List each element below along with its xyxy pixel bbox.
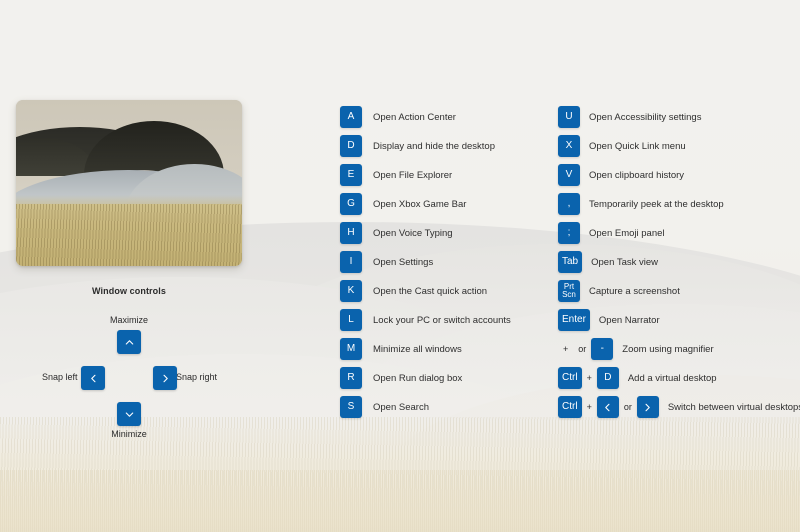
chevron-right-icon bbox=[160, 373, 171, 384]
key-prt-scn[interactable]: PrtScn bbox=[558, 280, 580, 302]
shortcut-description: Switch between virtual desktops bbox=[668, 402, 800, 413]
shortcut-keys: H bbox=[340, 222, 362, 244]
shortcut-row: ;Open Emoji panel bbox=[558, 222, 800, 244]
shortcut-row: VOpen clipboard history bbox=[558, 164, 800, 186]
key-label: L bbox=[348, 315, 354, 325]
key-label-line: Scn bbox=[562, 291, 576, 299]
minimize-label: Minimize bbox=[16, 429, 242, 439]
shortcut-keys: Tab bbox=[558, 251, 582, 273]
shortcut-description: Capture a screenshot bbox=[589, 286, 680, 297]
key-[interactable]: - bbox=[591, 338, 613, 360]
key-label: S bbox=[348, 402, 355, 412]
shortcut-description: Open Emoji panel bbox=[589, 228, 665, 239]
key-label: D bbox=[347, 141, 354, 151]
key-label: ; bbox=[568, 228, 571, 238]
key-h[interactable]: H bbox=[340, 222, 362, 244]
key-x[interactable]: X bbox=[558, 135, 580, 157]
key-label: - bbox=[601, 344, 604, 354]
key-ctrl[interactable]: Ctrl bbox=[558, 396, 582, 418]
key-i[interactable]: I bbox=[340, 251, 362, 273]
shortcut-description: Add a virtual desktop bbox=[628, 373, 717, 384]
shortcut-keys: M bbox=[340, 338, 362, 360]
snap-left-label: Snap left bbox=[42, 372, 78, 382]
shortcut-keys: , bbox=[558, 193, 580, 215]
key-g[interactable]: G bbox=[340, 193, 362, 215]
arrow-up-key[interactable] bbox=[117, 330, 141, 354]
wallpaper-thumbnail bbox=[16, 100, 242, 266]
shortcut-description: Open Quick Link menu bbox=[589, 141, 686, 152]
window-controls-diagram: Maximize Minimize Snap left Snap right bbox=[16, 312, 242, 440]
snap-right-label: Snap right bbox=[176, 372, 217, 382]
shortcut-keys: Ctrl+or bbox=[558, 396, 659, 418]
shortcut-column-left: AOpen Action CenterDDisplay and hide the… bbox=[340, 106, 511, 425]
shortcut-description: Open Task view bbox=[591, 257, 658, 268]
shortcut-description: Zoom using magnifier bbox=[622, 344, 713, 355]
chevron-left-icon bbox=[88, 373, 99, 384]
key-label: D bbox=[604, 373, 611, 383]
shortcut-row: ,Temporarily peek at the desktop bbox=[558, 193, 800, 215]
key-chevron-right[interactable] bbox=[637, 396, 659, 418]
shortcut-row: DDisplay and hide the desktop bbox=[340, 135, 511, 157]
shortcut-description: Temporarily peek at the desktop bbox=[589, 199, 724, 210]
shortcut-row: AOpen Action Center bbox=[340, 106, 511, 128]
shortcut-row: TabOpen Task view bbox=[558, 251, 800, 273]
key-a[interactable]: A bbox=[340, 106, 362, 128]
arrow-down-key[interactable] bbox=[117, 402, 141, 426]
shortcut-description: Lock your PC or switch accounts bbox=[373, 315, 511, 326]
shortcut-keys: D bbox=[340, 135, 362, 157]
key-tab[interactable]: Tab bbox=[558, 251, 582, 273]
shortcut-description: Open Search bbox=[373, 402, 429, 413]
key-m[interactable]: M bbox=[340, 338, 362, 360]
shortcut-row: PrtScnCapture a screenshot bbox=[558, 280, 800, 302]
shortcut-description: Open Run dialog box bbox=[373, 373, 462, 384]
shortcut-row: LLock your PC or switch accounts bbox=[340, 309, 511, 331]
shortcut-description: Open Voice Typing bbox=[373, 228, 453, 239]
shortcut-keys: PrtScn bbox=[558, 280, 580, 302]
key-label: M bbox=[347, 344, 355, 354]
shortcut-description: Open Action Center bbox=[373, 112, 456, 123]
chevron-up-icon bbox=[124, 337, 135, 348]
shortcut-row: GOpen Xbox Game Bar bbox=[340, 193, 511, 215]
key-label: E bbox=[348, 170, 355, 180]
key-label: Ctrl bbox=[562, 373, 578, 383]
shortcut-row: Ctrl+DAdd a virtual desktop bbox=[558, 367, 800, 389]
shortcut-row: ROpen Run dialog box bbox=[340, 367, 511, 389]
window-controls-title: Window controls bbox=[16, 286, 242, 296]
key-separator-plus: + bbox=[582, 402, 597, 412]
key-label: R bbox=[347, 373, 354, 383]
shortcut-keys: L bbox=[340, 309, 362, 331]
key-label: I bbox=[350, 257, 353, 267]
key-label: X bbox=[566, 141, 573, 151]
key-e[interactable]: E bbox=[340, 164, 362, 186]
key-label: , bbox=[568, 199, 571, 209]
shortcut-keys: E bbox=[340, 164, 362, 186]
shortcut-keys: S bbox=[340, 396, 362, 418]
key-v[interactable]: V bbox=[558, 164, 580, 186]
shortcut-keys: G bbox=[340, 193, 362, 215]
key-separator-plus: + bbox=[558, 344, 573, 354]
shortcut-keys: U bbox=[558, 106, 580, 128]
key-label: H bbox=[347, 228, 354, 238]
key-label: Ctrl bbox=[562, 402, 578, 412]
shortcut-row: IOpen Settings bbox=[340, 251, 511, 273]
shortcut-row: EOpen File Explorer bbox=[340, 164, 511, 186]
shortcut-keys: ; bbox=[558, 222, 580, 244]
key-l[interactable]: L bbox=[340, 309, 362, 331]
shortcut-description: Open Accessibility settings bbox=[589, 112, 701, 123]
key-label: U bbox=[565, 112, 572, 122]
key-label: K bbox=[348, 286, 355, 296]
shortcut-description: Open the Cast quick action bbox=[373, 286, 487, 297]
shortcut-keys: R bbox=[340, 367, 362, 389]
key-k[interactable]: K bbox=[340, 280, 362, 302]
key-label: V bbox=[566, 170, 573, 180]
shortcut-keys: Enter bbox=[558, 309, 590, 331]
key-d[interactable]: D bbox=[340, 135, 362, 157]
key-ctrl[interactable]: Ctrl bbox=[558, 367, 582, 389]
shortcut-row: MMinimize all windows bbox=[340, 338, 511, 360]
shortcut-description: Display and hide the desktop bbox=[373, 141, 495, 152]
shortcut-keys: X bbox=[558, 135, 580, 157]
shortcut-description: Open Narrator bbox=[599, 315, 660, 326]
arrow-right-key[interactable] bbox=[153, 366, 177, 390]
shortcut-description: Open Settings bbox=[373, 257, 433, 268]
shortcut-keys: Ctrl+D bbox=[558, 367, 619, 389]
shortcut-row: XOpen Quick Link menu bbox=[558, 135, 800, 157]
shortcut-keys: +or- bbox=[558, 338, 613, 360]
grass-field-near bbox=[0, 470, 800, 532]
arrow-left-key[interactable] bbox=[81, 366, 105, 390]
shortcut-description: Minimize all windows bbox=[373, 344, 462, 355]
key-r[interactable]: R bbox=[340, 367, 362, 389]
key-separator-plus: + bbox=[582, 373, 597, 383]
shortcut-row: KOpen the Cast quick action bbox=[340, 280, 511, 302]
key-label: Enter bbox=[562, 315, 586, 325]
shortcut-description: Open File Explorer bbox=[373, 170, 452, 181]
shortcut-row: SOpen Search bbox=[340, 396, 511, 418]
key-label: G bbox=[347, 199, 355, 209]
shortcut-description: Open clipboard history bbox=[589, 170, 684, 181]
key-label: Tab bbox=[562, 257, 578, 267]
key-s[interactable]: S bbox=[340, 396, 362, 418]
shortcut-description: Open Xbox Game Bar bbox=[373, 199, 466, 210]
key-chevron-left[interactable] bbox=[597, 396, 619, 418]
shortcut-row: UOpen Accessibility settings bbox=[558, 106, 800, 128]
maximize-label: Maximize bbox=[16, 315, 242, 325]
chevron-down-icon bbox=[124, 409, 135, 420]
key-separator-or: or bbox=[573, 344, 591, 354]
shortcut-row: HOpen Voice Typing bbox=[340, 222, 511, 244]
key-[interactable]: ; bbox=[558, 222, 580, 244]
chevron-left-icon bbox=[602, 402, 613, 413]
key-[interactable]: , bbox=[558, 193, 580, 215]
key-separator-or: or bbox=[619, 402, 637, 412]
shortcut-keys: A bbox=[340, 106, 362, 128]
key-label: A bbox=[348, 112, 355, 122]
thumbnail-grass bbox=[16, 204, 242, 266]
shortcut-row: EnterOpen Narrator bbox=[558, 309, 800, 331]
chevron-right-icon bbox=[642, 402, 653, 413]
shortcut-keys: K bbox=[340, 280, 362, 302]
shortcut-keys: I bbox=[340, 251, 362, 273]
key-u[interactable]: U bbox=[558, 106, 580, 128]
shortcut-column-right: UOpen Accessibility settingsXOpen Quick … bbox=[558, 106, 800, 425]
shortcut-keys: V bbox=[558, 164, 580, 186]
key-d[interactable]: D bbox=[597, 367, 619, 389]
shortcut-row: Ctrl+orSwitch between virtual desktops bbox=[558, 396, 800, 418]
key-enter[interactable]: Enter bbox=[558, 309, 590, 331]
shortcut-row: +or-Zoom using magnifier bbox=[558, 338, 800, 360]
